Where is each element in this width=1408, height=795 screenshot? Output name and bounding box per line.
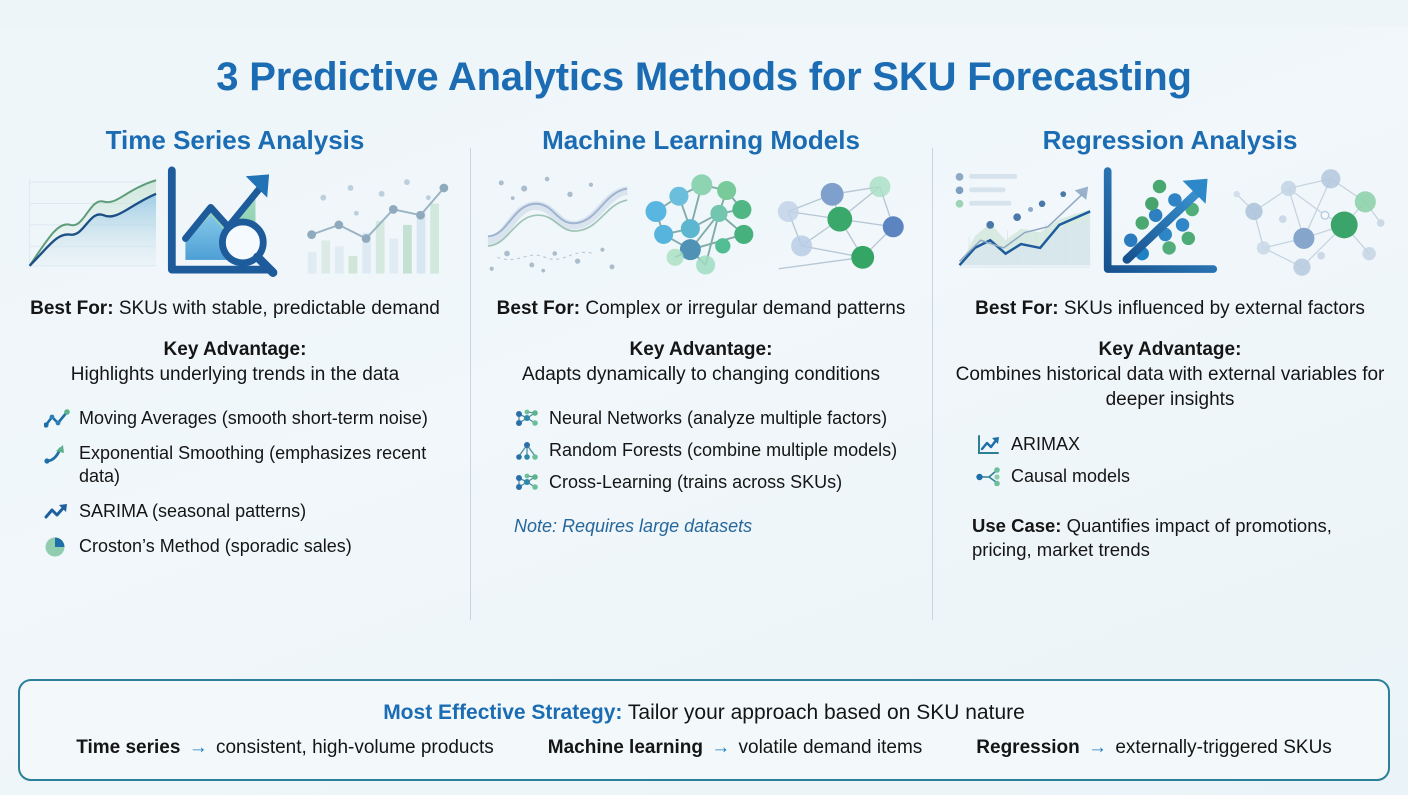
network-graph-thumbnail bbox=[1229, 163, 1392, 281]
machine-learning-illustration bbox=[486, 162, 916, 282]
strategy-mapping-regression: Regression → externally-triggered SKUs bbox=[976, 737, 1332, 759]
key-advantage-label: Key Advantage: bbox=[952, 337, 1388, 362]
regression-illustration bbox=[948, 162, 1392, 282]
list-item: Causal models bbox=[976, 465, 1392, 488]
list-item-label: Moving Averages (smooth short-term noise… bbox=[79, 407, 428, 430]
arrow-right-icon: → bbox=[186, 737, 211, 758]
list-item: Moving Averages (smooth short-term noise… bbox=[44, 407, 454, 430]
use-case-label: Use Case: bbox=[972, 515, 1061, 536]
mapping-label: Regression bbox=[976, 737, 1079, 758]
zigzag-line-icon bbox=[44, 408, 70, 430]
pie-chart-icon bbox=[44, 536, 70, 558]
time-series-method-list: Moving Averages (smooth short-term noise… bbox=[16, 407, 454, 557]
arrow-right-icon: → bbox=[708, 737, 733, 758]
column-time-series: Time Series Analysis bbox=[0, 126, 470, 666]
neural-network-icon bbox=[514, 472, 540, 494]
list-item: Cross-Learning (trains across SKUs) bbox=[514, 471, 916, 494]
best-for-label: Best For: bbox=[497, 298, 580, 319]
page-title: 3 Predictive Analytics Methods for SKU F… bbox=[0, 27, 1408, 99]
column-heading-machine-learning: Machine Learning Models bbox=[486, 126, 916, 155]
list-item: SARIMA (seasonal patterns) bbox=[44, 500, 454, 523]
legend-area-chart-thumbnail bbox=[948, 163, 1094, 281]
list-item-label: Exponential Smoothing (emphasizes recent… bbox=[79, 442, 454, 487]
arrow-right-icon: → bbox=[1085, 737, 1110, 758]
use-case-regression: Use Case: Quantifies impact of promotion… bbox=[972, 514, 1376, 562]
mapping-text: consistent, high-volume products bbox=[216, 737, 494, 758]
list-item-label: Croston’s Method (sporadic sales) bbox=[79, 535, 352, 558]
tree-network-icon bbox=[514, 440, 540, 462]
best-for-text: SKUs influenced by external factors bbox=[1064, 298, 1365, 319]
infographic-page: 3 Predictive Analytics Methods for SKU F… bbox=[0, 27, 1408, 795]
key-advantage-label: Key Advantage: bbox=[20, 337, 450, 362]
trend-arrow-icon bbox=[44, 501, 70, 523]
list-item: ARIMAX bbox=[976, 433, 1392, 456]
mapping-text: volatile demand items bbox=[739, 737, 923, 758]
strategy-text: Tailor your approach based on SKU nature bbox=[628, 701, 1025, 724]
column-regression: Regression Analysis bbox=[932, 126, 1408, 666]
key-advantage-text: Combines historical data with external v… bbox=[956, 364, 1385, 410]
best-for-text: Complex or irregular demand patterns bbox=[585, 298, 905, 319]
key-advantage-label: Key Advantage: bbox=[490, 337, 912, 362]
best-for-time-series: Best For: SKUs with stable, predictable … bbox=[26, 296, 444, 321]
key-advantage-regression: Key Advantage: Combines historical data … bbox=[952, 337, 1388, 412]
strategy-mapping-time-series: Time series → consistent, high-volume pr… bbox=[76, 737, 494, 759]
faded-wave-scatter-thumbnail bbox=[486, 163, 629, 281]
key-advantage-text: Adapts dynamically to changing condition… bbox=[522, 364, 880, 385]
list-item-label: SARIMA (seasonal patterns) bbox=[79, 500, 306, 523]
list-item: Exponential Smoothing (emphasizes recent… bbox=[44, 442, 454, 487]
best-for-machine-learning: Best For: Complex or irregular demand pa… bbox=[496, 296, 906, 321]
machine-learning-method-list: Neural Networks (analyze multiple factor… bbox=[486, 407, 916, 494]
strategy-banner: Most Effective Strategy: Tailor your app… bbox=[18, 679, 1390, 781]
list-item-label: ARIMAX bbox=[1011, 433, 1080, 456]
list-item-label: Random Forests (combine multiple models) bbox=[549, 439, 897, 462]
list-item: Croston’s Method (sporadic sales) bbox=[44, 535, 454, 558]
mapping-text: externally-triggered SKUs bbox=[1115, 737, 1331, 758]
neural-network-icon bbox=[514, 408, 540, 430]
best-for-label: Best For: bbox=[975, 298, 1058, 319]
node-graph-thumbnail bbox=[773, 163, 916, 281]
strategy-label: Most Effective Strategy: bbox=[383, 701, 622, 724]
axis-trend-icon bbox=[976, 434, 1002, 456]
list-item-label: Neural Networks (analyze multiple factor… bbox=[549, 407, 887, 430]
methods-columns: Time Series Analysis bbox=[0, 126, 1408, 666]
scatter-bar-chart-thumbnail bbox=[298, 163, 454, 281]
strategy-mapping-machine-learning: Machine learning → volatile demand items bbox=[548, 737, 923, 759]
list-item-label: Causal models bbox=[1011, 465, 1130, 488]
best-for-regression: Best For: SKUs influenced by external fa… bbox=[958, 296, 1382, 321]
scatter-regression-icon bbox=[1100, 163, 1223, 281]
column-machine-learning: Machine Learning Models bbox=[470, 126, 932, 666]
regression-method-list: ARIMAX Causal mod bbox=[948, 433, 1392, 488]
strategy-headline: Most Effective Strategy: Tailor your app… bbox=[383, 701, 1025, 725]
axis-arrow-magnifier-icon bbox=[166, 163, 292, 281]
column-heading-regression: Regression Analysis bbox=[948, 126, 1392, 155]
line-area-chart-thumbnail bbox=[16, 163, 160, 281]
list-item-label: Cross-Learning (trains across SKUs) bbox=[549, 471, 842, 494]
machine-learning-note: Note: Requires large datasets bbox=[514, 516, 916, 537]
key-advantage-time-series: Key Advantage: Highlights underlying tre… bbox=[20, 337, 450, 387]
curved-arrow-icon bbox=[44, 443, 70, 465]
strategy-mappings: Time series → consistent, high-volume pr… bbox=[76, 737, 1332, 759]
column-heading-time-series: Time Series Analysis bbox=[16, 126, 454, 155]
best-for-text: SKUs with stable, predictable demand bbox=[119, 298, 440, 319]
list-item: Neural Networks (analyze multiple factor… bbox=[514, 407, 916, 430]
key-advantage-text: Highlights underlying trends in the data bbox=[71, 364, 399, 385]
mapping-label: Machine learning bbox=[548, 737, 703, 758]
mapping-label: Time series bbox=[76, 737, 180, 758]
best-for-label: Best For: bbox=[30, 298, 113, 319]
causal-node-icon bbox=[976, 466, 1002, 488]
time-series-illustration bbox=[16, 162, 454, 282]
brain-network-icon bbox=[635, 163, 767, 281]
list-item: Random Forests (combine multiple models) bbox=[514, 439, 916, 462]
key-advantage-machine-learning: Key Advantage: Adapts dynamically to cha… bbox=[490, 337, 912, 387]
